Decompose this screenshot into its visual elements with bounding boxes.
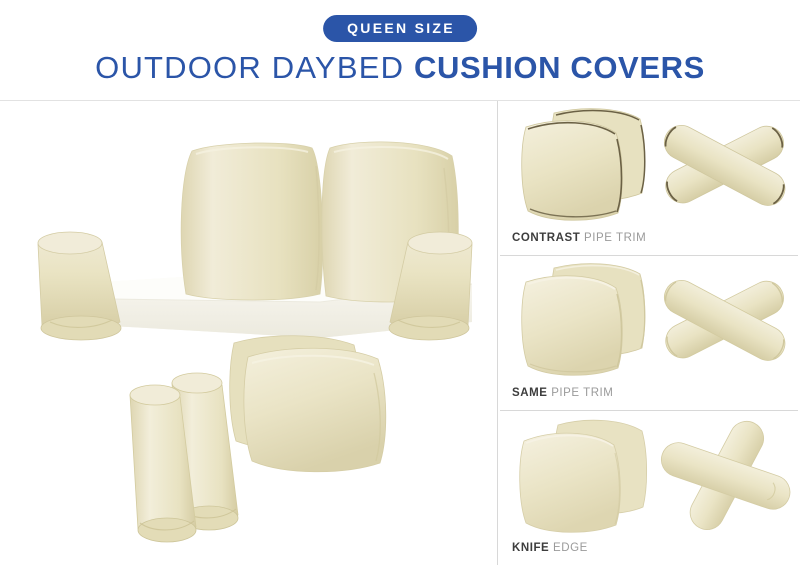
cushion-set-illustration bbox=[120, 327, 420, 557]
trim-label-soft: PIPE TRIM bbox=[584, 232, 646, 244]
outdoor-daybed-illustration bbox=[20, 126, 490, 356]
contrast-pillows-illustration bbox=[500, 101, 655, 229]
trim-option-knife-edge[interactable]: KNIFE EDGE bbox=[498, 411, 800, 565]
pillow-front bbox=[522, 121, 623, 221]
trim-option-artwork bbox=[498, 101, 800, 229]
page-title-bold: CUSHION COVERS bbox=[414, 50, 705, 85]
pillow-front bbox=[520, 433, 621, 532]
trim-option-contrast-pipe-trim[interactable]: CONTRAST PIPE TRIM bbox=[498, 101, 800, 256]
trim-label-strong: SAME bbox=[512, 387, 547, 399]
same-bolsters-illustration bbox=[653, 256, 800, 384]
page-title-light: OUTDOOR DAYBED bbox=[95, 50, 404, 85]
trim-option-label: CONTRAST PIPE TRIM bbox=[512, 233, 646, 245]
contrast-bolsters-cell bbox=[653, 101, 800, 229]
trim-option-label: KNIFE EDGE bbox=[512, 543, 588, 555]
back-pillow-left bbox=[181, 143, 323, 300]
pillow-front bbox=[522, 276, 623, 376]
same-bolsters-cell bbox=[653, 256, 800, 384]
main-product-panel bbox=[0, 101, 497, 565]
size-badge: QUEEN SIZE bbox=[323, 15, 477, 42]
knife-bolsters-illustration bbox=[653, 411, 800, 539]
contrast-bolsters-illustration bbox=[653, 101, 800, 229]
trim-option-same-pipe-trim[interactable]: SAME PIPE TRIM bbox=[498, 256, 800, 411]
trim-options-panel: CONTRAST PIPE TRIM bbox=[498, 101, 800, 565]
trim-label-strong: CONTRAST bbox=[512, 232, 580, 244]
trim-option-artwork bbox=[498, 411, 800, 539]
trim-option-label: SAME PIPE TRIM bbox=[512, 388, 613, 400]
same-pillows-illustration bbox=[500, 256, 655, 384]
knife-pillows-cell bbox=[500, 411, 655, 539]
trim-label-strong: KNIFE bbox=[512, 542, 549, 554]
page-title: OUTDOOR DAYBED CUSHION COVERS bbox=[0, 52, 800, 83]
contrast-pillows-cell bbox=[500, 101, 655, 229]
back-pillow-front bbox=[244, 348, 386, 472]
product-image-canvas: QUEEN SIZE OUTDOOR DAYBED CUSHION COVERS bbox=[0, 0, 800, 565]
trim-label-soft: EDGE bbox=[553, 542, 588, 554]
trim-option-artwork bbox=[498, 256, 800, 384]
knife-bolsters-cell bbox=[653, 411, 800, 539]
bolster-left bbox=[38, 232, 121, 340]
knife-pillows-illustration bbox=[500, 411, 655, 539]
same-pillows-cell bbox=[500, 256, 655, 384]
header: QUEEN SIZE OUTDOOR DAYBED CUSHION COVERS bbox=[0, 0, 800, 100]
trim-label-soft: PIPE TRIM bbox=[551, 387, 613, 399]
